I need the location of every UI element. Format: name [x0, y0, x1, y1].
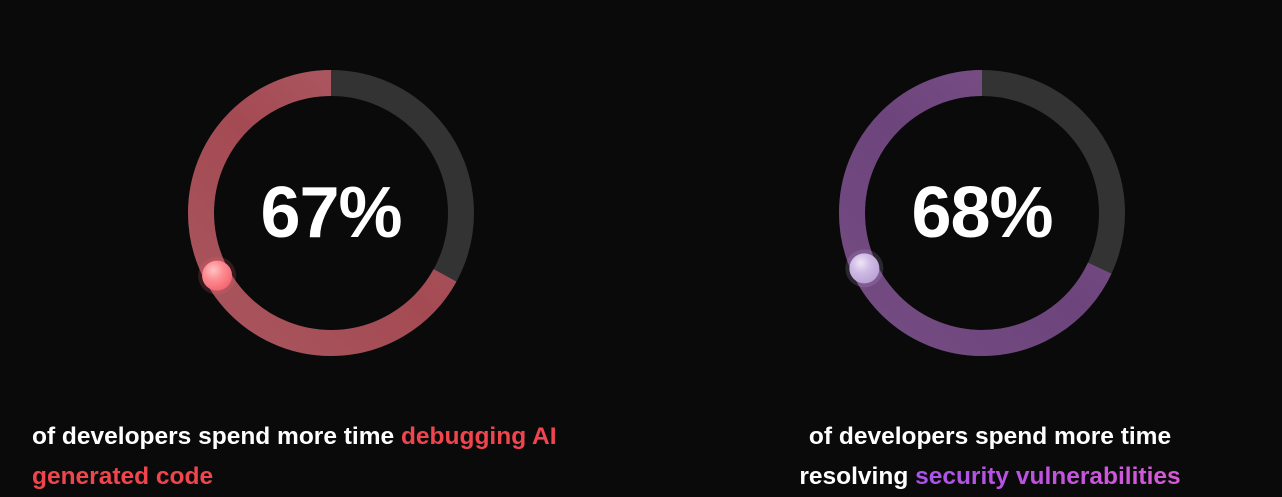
- donut-gauge-svg: [829, 60, 1135, 366]
- donut-gauge-debugging-ai-code: 67%: [178, 60, 484, 366]
- donut-gauge-svg: [178, 60, 484, 366]
- caption-highlight-text: security vulnerabilities: [915, 463, 1181, 490]
- donut-gauge-security-vulnerabilities: 68%: [829, 60, 1135, 366]
- stats-panel: 67% of developers spend more time debugg…: [0, 0, 1282, 493]
- stat-caption-security-vulnerabilities: of developers spend more time resolving …: [755, 417, 1225, 497]
- gauge-endpoint-dot: [845, 249, 883, 287]
- gauge-endpoint-dot: [198, 257, 236, 295]
- stat-block-debugging-ai-code: 67% of developers spend more time debugg…: [0, 0, 660, 493]
- stat-block-security-vulnerabilities: 68% of developers spend more time resolv…: [660, 0, 1282, 493]
- stat-caption-debugging-ai-code: of developers spend more time debugging …: [32, 417, 632, 497]
- caption-lead-text: of developers spend more time: [32, 423, 401, 450]
